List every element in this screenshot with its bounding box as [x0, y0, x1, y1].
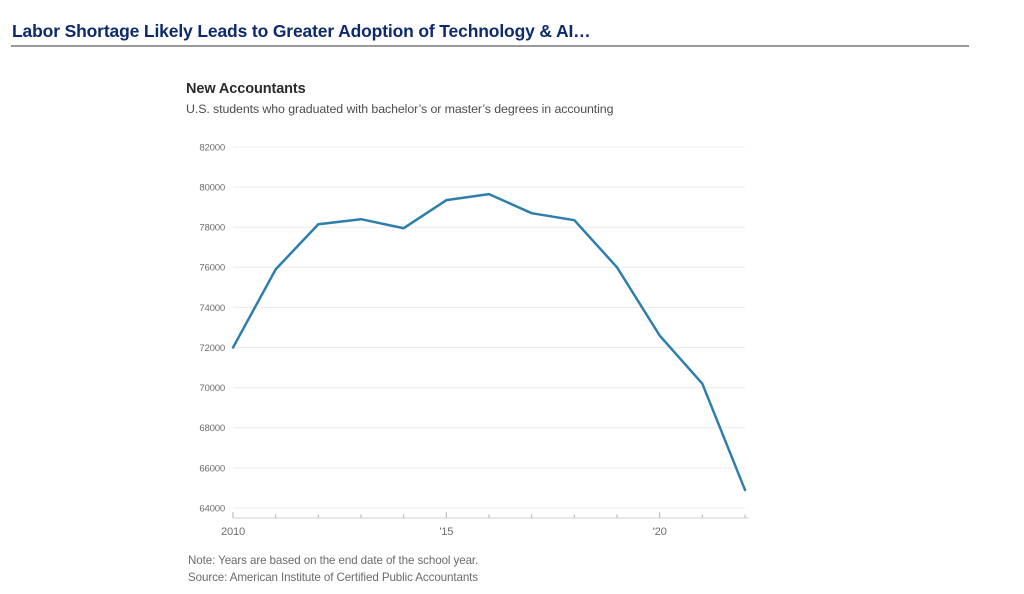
data-line-series	[233, 194, 745, 490]
x-axis-tick-label: 2010	[221, 526, 245, 538]
y-axis-tick-label: 80000	[199, 183, 225, 194]
y-axis-tick-label: 76000	[199, 263, 225, 274]
chart-title: New Accountants	[186, 80, 806, 98]
title-underline-rule	[11, 45, 969, 47]
y-axis-tick-label: 72000	[199, 343, 225, 354]
x-axis-tick-label: '15	[439, 526, 453, 538]
x-axis-tick-label: '20	[653, 526, 667, 538]
chart-source: Source: American Institute of Certified …	[188, 569, 788, 586]
y-axis-tick-label: 64000	[199, 503, 225, 514]
y-axis-tick-label: 70000	[199, 383, 225, 394]
data-series-group	[233, 194, 745, 490]
y-axis-tick-labels: 6400066000680007000072000740007600078000…	[199, 142, 225, 514]
line-chart-plot-area: 6400066000680007000072000740007600078000…	[186, 135, 786, 545]
chart-subtitle: U.S. students who graduated with bachelo…	[186, 101, 806, 117]
y-axis-tick-label: 68000	[199, 423, 225, 434]
gridlines-group	[233, 147, 745, 508]
y-axis-tick-label: 78000	[199, 223, 225, 234]
x-axis	[233, 512, 749, 518]
x-axis-tick-labels: 2010'15'20	[221, 526, 667, 538]
chart-note: Note: Years are based on the end date of…	[188, 552, 788, 569]
slide-header: Labor Shortage Likely Leads to Greater A…	[0, 0, 1024, 56]
y-axis-tick-label: 74000	[199, 303, 225, 314]
chart-heading-block: New Accountants U.S. students who gradua…	[186, 80, 806, 117]
y-axis-tick-label: 66000	[199, 463, 225, 474]
line-chart-svg: 6400066000680007000072000740007600078000…	[186, 135, 786, 545]
page-title: Labor Shortage Likely Leads to Greater A…	[12, 21, 591, 42]
y-axis-tick-label: 82000	[199, 142, 225, 153]
footnotes-block: Note: Years are based on the end date of…	[188, 552, 788, 586]
